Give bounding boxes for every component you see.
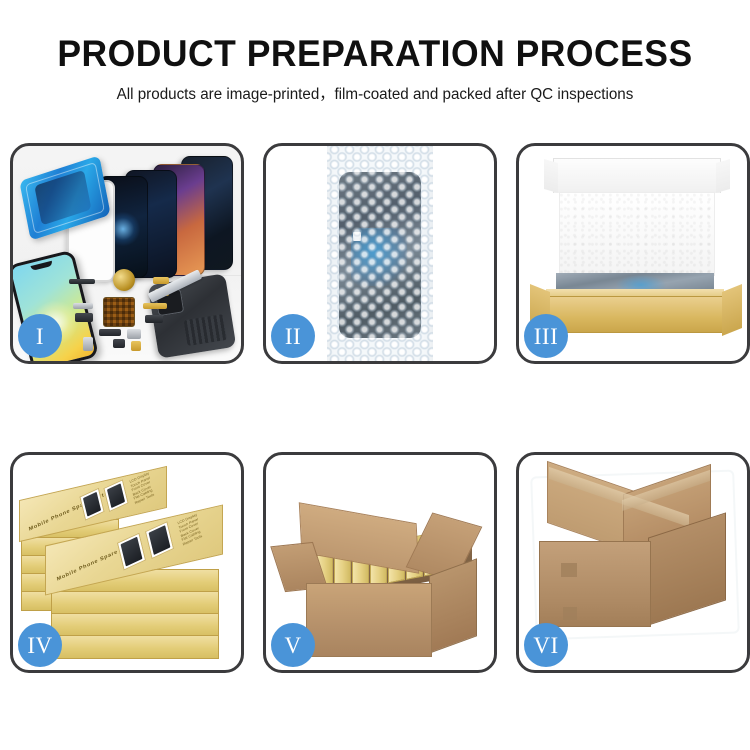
step-panel-1[interactable]: I xyxy=(10,143,244,364)
part-icon xyxy=(127,329,141,339)
carton-front-panel xyxy=(306,583,432,657)
carton-side-panel xyxy=(429,558,477,653)
carton-front-panel xyxy=(539,541,651,627)
product-preparation-infographic: PRODUCT PREPARATION PROCESS All products… xyxy=(0,0,750,750)
speaker-coil-icon xyxy=(113,269,135,291)
part-icon xyxy=(113,339,125,348)
part-icon xyxy=(153,277,169,284)
part-icon xyxy=(73,303,93,309)
part-icon xyxy=(69,279,95,284)
step-panel-6[interactable]: VI xyxy=(516,452,750,673)
part-icon xyxy=(83,337,93,351)
step-badge-5: V xyxy=(271,623,315,667)
part-icon xyxy=(75,313,93,322)
step-badge-6: VI xyxy=(524,623,568,667)
spare-parts-cluster xyxy=(69,273,199,357)
header: PRODUCT PREPARATION PROCESS All products… xyxy=(0,0,750,105)
retail-box-window-icon xyxy=(103,479,128,512)
steps-grid: I II xyxy=(10,143,740,673)
retail-box-checklist: LCD Display Touch Panel Front Cover Back… xyxy=(177,513,203,547)
carton-seam-mark xyxy=(561,563,577,577)
foam-liner-icon xyxy=(559,192,715,276)
step-panel-5[interactable]: V xyxy=(263,452,497,673)
inner-box-body-icon xyxy=(546,296,726,333)
retail-box-window-icon xyxy=(145,521,174,559)
bubble-overlay-texture xyxy=(327,146,433,361)
step-panel-2[interactable]: II xyxy=(263,143,497,364)
step-badge-2: II xyxy=(271,314,315,358)
step-badge-1: I xyxy=(18,314,62,358)
retail-box-window-icon xyxy=(117,533,146,571)
retail-box-checklist: LCD Display Touch Panel Front Cover Back… xyxy=(129,471,155,505)
tweezers-icon xyxy=(148,269,203,303)
retail-box-icon xyxy=(51,591,219,615)
step-panel-4[interactable]: Mobile Phone Spare Parts LCD Display Tou… xyxy=(10,452,244,673)
step-badge-4: IV xyxy=(18,623,62,667)
step-panel-3[interactable]: III xyxy=(516,143,750,364)
part-icon xyxy=(143,303,167,309)
inner-box-lid-icon xyxy=(553,158,721,193)
step-badge-3: III xyxy=(524,314,568,358)
page-title: PRODUCT PREPARATION PROCESS xyxy=(15,0,735,76)
part-icon xyxy=(131,341,141,351)
retail-box-icon xyxy=(51,635,219,659)
chip-array-icon xyxy=(103,297,135,327)
part-icon xyxy=(145,315,163,323)
part-icon xyxy=(99,329,121,336)
page-subtitle: All products are image-printed，film-coat… xyxy=(8,76,743,105)
retail-box-icon xyxy=(51,613,219,637)
carton-seam-mark xyxy=(563,607,577,620)
